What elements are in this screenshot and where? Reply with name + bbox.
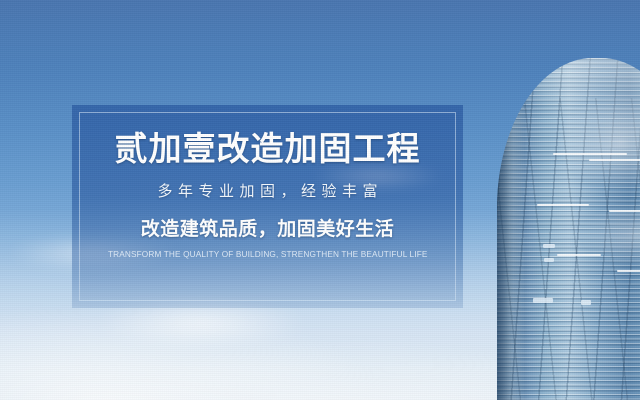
tower-window <box>544 258 554 262</box>
banner-image: 贰加壹改造加固工程 多年专业加固，经验丰富 改造建筑品质，加固美好生活 TRAN… <box>0 0 640 400</box>
tower-highlight-streak <box>617 270 640 272</box>
headline-title: 贰加壹改造加固工程 <box>115 132 421 165</box>
tower-window <box>533 298 553 303</box>
tagline-chinese: 改造建筑品质，加固美好生活 <box>141 220 395 239</box>
text-overlay-panel: 贰加壹改造加固工程 多年专业加固，经验丰富 改造建筑品质，加固美好生活 TRAN… <box>72 105 463 308</box>
tower-highlight-streak <box>537 204 589 206</box>
tower-highlight-streak <box>609 210 640 212</box>
tower-body <box>497 58 640 400</box>
subtitle-chinese: 多年专业加固，经验丰富 <box>152 184 383 199</box>
tower-highlight-streak <box>589 159 640 161</box>
tower-glass-reflection <box>497 58 640 400</box>
tower-window <box>581 300 591 305</box>
tower-highlight-streak <box>557 254 601 256</box>
panel-content: 贰加壹改造加固工程 多年专业加固，经验丰富 改造建筑品质，加固美好生活 TRAN… <box>72 105 463 308</box>
tower-highlight-streak <box>553 153 627 155</box>
tagline-english: TRANSFORM THE QUALITY OF BUILDING, STREN… <box>108 250 428 259</box>
skyscraper-photo <box>497 58 640 400</box>
tower-window <box>543 244 555 248</box>
